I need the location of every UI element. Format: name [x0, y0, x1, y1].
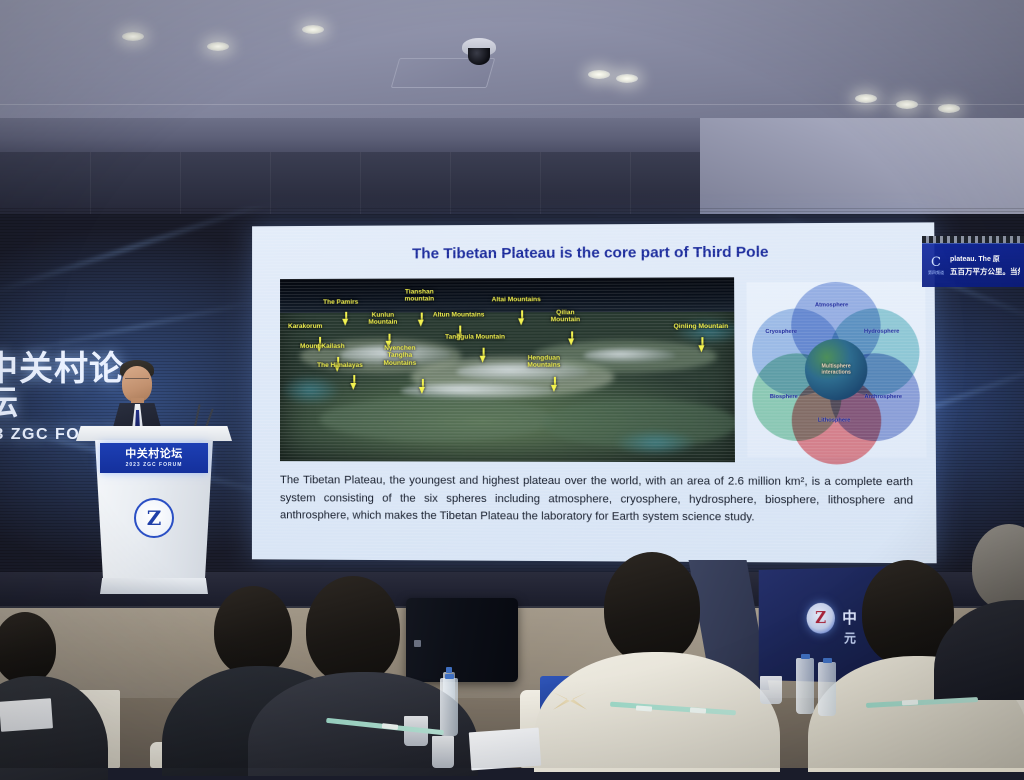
attendee-badge [636, 705, 652, 711]
slide-body-text: The Tibetan Plateau, the youngest and hi… [280, 472, 913, 528]
map-arrow-icon [418, 320, 424, 327]
map-label: Karakorum [288, 323, 322, 331]
podium-sign: 中关村论坛 2023 ZGC FORUM [100, 443, 208, 473]
venn-label-lithosphere: Lithosphere [818, 417, 851, 423]
venn-label-atmosphere: Atmosphere [815, 302, 848, 308]
broadcaster-logo-cn: 第四频道 [926, 270, 946, 276]
zgc-logo-icon: Z [807, 603, 835, 634]
forum-emblem-icon: Z [134, 498, 174, 538]
audience-head [306, 576, 400, 684]
map-arrow-icon [568, 338, 574, 345]
ceiling-downlight [616, 74, 638, 83]
water-bottle [796, 658, 814, 714]
map-label: Kunlun Mountain [368, 312, 397, 327]
venn-label-biosphere: Biosphere [770, 394, 798, 400]
ceiling-downlight [896, 100, 918, 109]
caption-line-en: plateau. The 原 [950, 254, 1020, 264]
map-label: Tianshan mountain [405, 288, 435, 303]
ceiling-downlight [122, 32, 144, 41]
map-arrow-icon [342, 319, 348, 326]
multisphere-venn-diagram: Atmosphere Hydrosphere Anthrosphere Lith… [747, 282, 927, 458]
ceiling-seam [0, 104, 1024, 105]
broadcast-caption-overlay: C 第四频道 plateau. The 原 五百万平方公里。当然，第三 [922, 243, 1024, 287]
zgc-logo-mark: Z [815, 609, 826, 628]
map-arrow-icon [350, 383, 356, 390]
documents-on-table [469, 728, 541, 771]
tibetan-plateau-satellite-map: KarakorumThe PamirsMount KailashThe Hima… [280, 277, 735, 462]
ceiling-downlight [588, 70, 610, 79]
water-bottle [818, 662, 836, 716]
paper-cup [760, 676, 782, 704]
venn-label-hydrosphere: Hydrosphere [864, 329, 899, 335]
podium-sign-en: 2023 ZGC FORUM [126, 462, 183, 468]
map-arrow-icon [480, 356, 486, 363]
ceiling-downlight [855, 94, 877, 103]
broadcaster-logo: C 第四频道 [926, 256, 946, 276]
audience-head [972, 524, 1024, 610]
right-wall-surface [700, 118, 1024, 214]
caption-line-cn: 五百万平方公里。当然，第三 [950, 266, 1020, 277]
audience-head [0, 612, 56, 684]
venn-center-label: Multisphere interactions [821, 363, 851, 376]
documents-on-table [0, 698, 53, 732]
attendee-badge [690, 707, 706, 713]
map-label: Qilian Mountain [551, 309, 581, 324]
audience-member [958, 524, 1024, 704]
dome-camera-icon [462, 38, 496, 56]
overlay-tick-strip [922, 236, 1024, 243]
audience-member [578, 552, 738, 768]
map-label: The Himalayas [317, 362, 363, 370]
water-bottle [440, 678, 458, 736]
venn-label-anthrosphere: Anthrosphere [864, 394, 902, 400]
presenter-glasses [125, 378, 149, 383]
ceiling-downlight [302, 25, 324, 34]
map-label: The Pamirs [323, 299, 358, 307]
map-label: Altun Mountains [433, 311, 485, 319]
podium-top-surface [76, 426, 232, 441]
map-label: Qinling Mountain [674, 323, 729, 331]
podium-sign-cn: 中关村论坛 [125, 448, 183, 459]
map-sky [280, 277, 734, 313]
venn-label-cryosphere: Cryosphere [765, 329, 797, 335]
map-arrow-icon [518, 318, 524, 325]
broadcaster-logo-mark: C [926, 256, 946, 269]
map-arrow-icon [419, 387, 425, 394]
presenter-head [122, 366, 152, 402]
audience-member [0, 612, 90, 768]
attendee-badge [902, 700, 918, 706]
slide-title: The Tibetan Plateau is the core part of … [252, 243, 934, 263]
ceiling-downlight [938, 104, 960, 113]
map-label: Altai Mountains [492, 296, 541, 304]
presentation-slide: The Tibetan Plateau is the core part of … [252, 222, 937, 563]
map-label: Tanggula Mountain [445, 334, 505, 342]
paper-cup [432, 736, 454, 768]
audience-head [604, 552, 700, 664]
ceiling-downlight [207, 42, 229, 51]
audience-head [214, 586, 292, 676]
map-arrow-icon [551, 385, 557, 392]
map-arrow-icon [698, 345, 704, 352]
map-label: Hengduan Mountains [527, 355, 560, 370]
caption-text-block: plateau. The 原 五百万平方公里。当然，第三 [950, 254, 1020, 277]
map-label: Nyenchen Tanglha Mountains [383, 345, 416, 368]
forum-emblem-mark: Z [147, 508, 162, 528]
conference-hall-photo: 中关村论坛 23 ZGC FORUM The Tibetan Plateau i… [0, 0, 1024, 768]
map-label: Mount Kailash [300, 343, 345, 351]
